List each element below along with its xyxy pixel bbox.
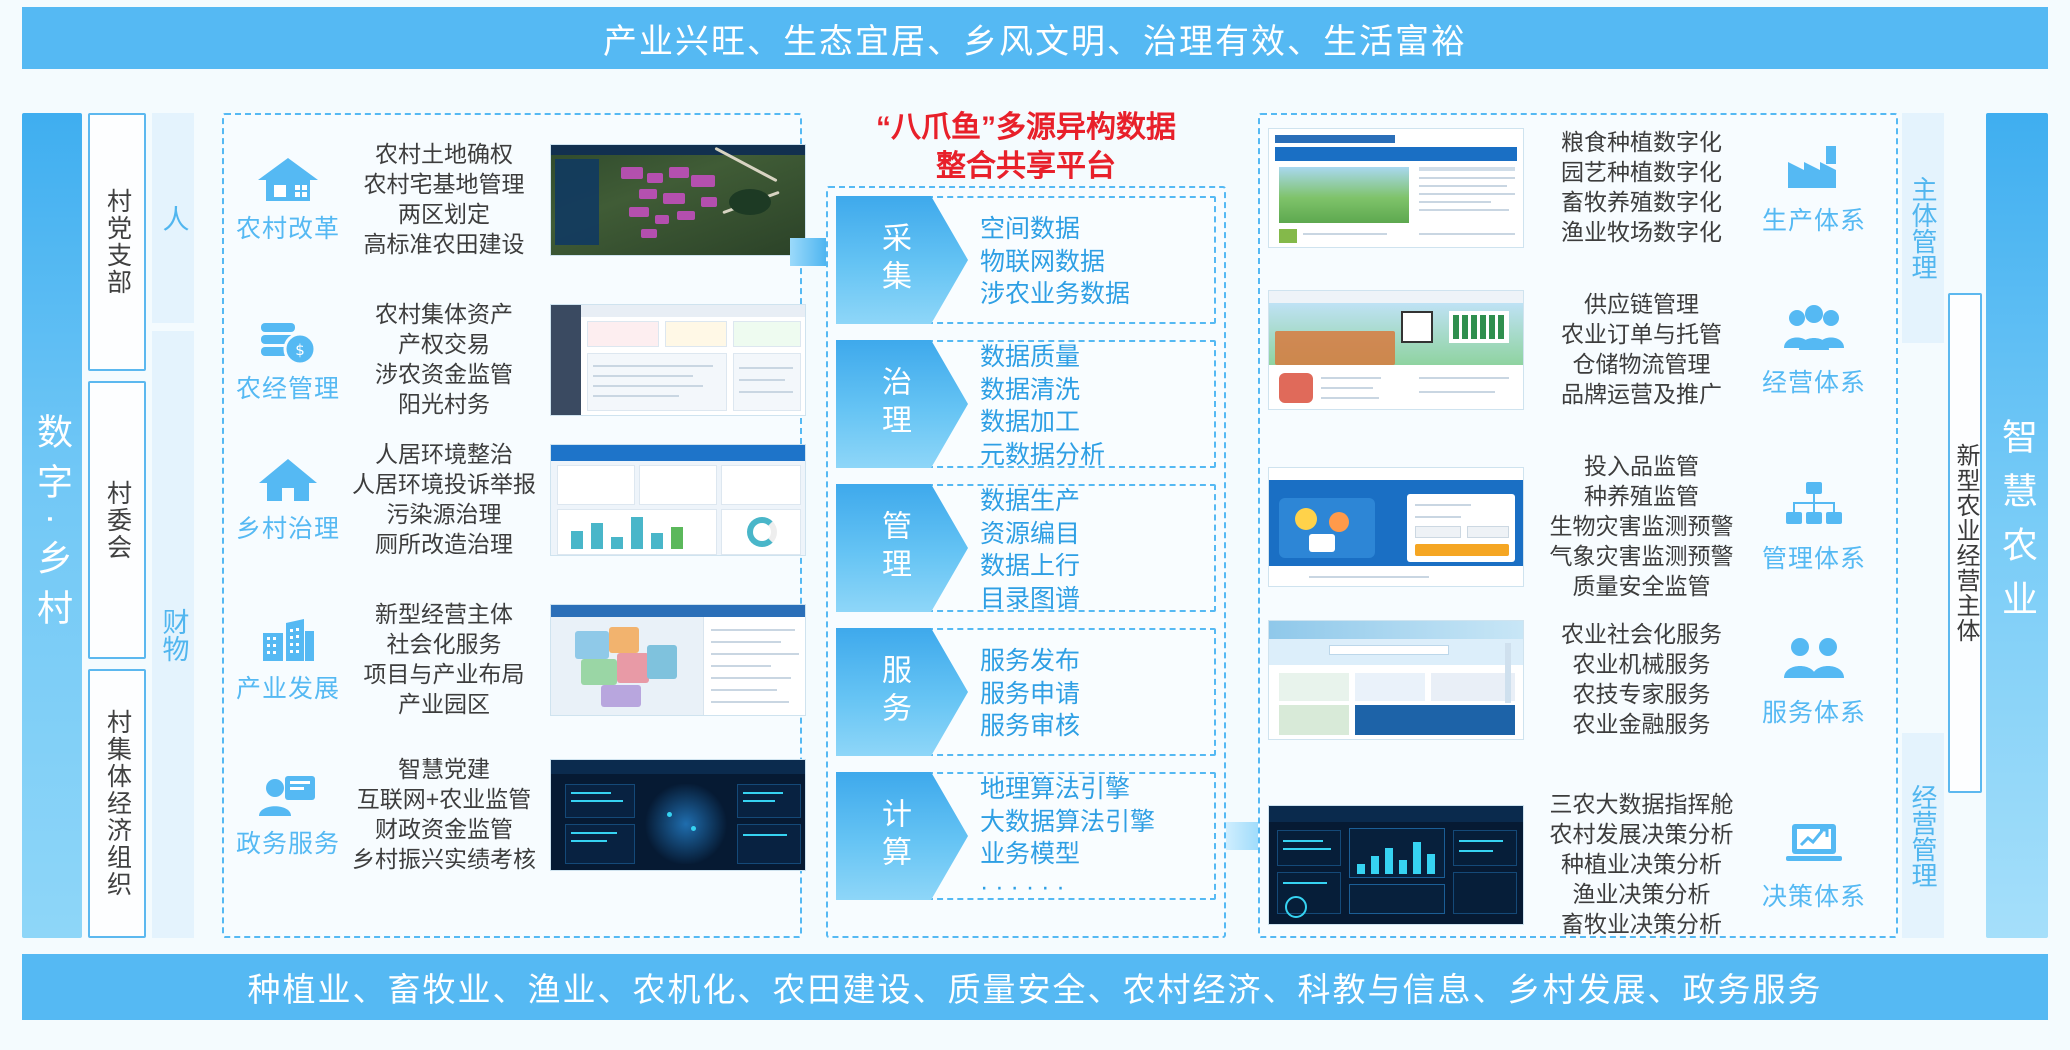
org-label: 村党支部 bbox=[105, 188, 130, 296]
pipeline-input-connector bbox=[790, 238, 826, 266]
stage-name: 管理 bbox=[878, 510, 908, 586]
right-feature-row[interactable]: 农业社会化服务 农业机械服务 农技专家服务 农业金融服务 服务体系 bbox=[1268, 620, 1888, 740]
feature-label: 产业发展 bbox=[236, 669, 340, 705]
org-box-collective-economy[interactable]: 村集体经济组织 bbox=[88, 669, 146, 938]
feature-text: 农村集体资产 产权交易 涉农资金监管 阳光村务 bbox=[344, 300, 544, 420]
right-feature-text: 农业社会化服务 农业机械服务 农技专家服务 农业金融服务 bbox=[1534, 620, 1749, 740]
bi-dashboard-screenshot[interactable] bbox=[550, 444, 806, 556]
feature-text: 智慧党建 互联网+农业监管 财政资金监管 乡村振兴实绩考核 bbox=[344, 755, 544, 875]
pipeline-stage-manage[interactable]: 管理 数据生产 资源编目 数据上行 目录图谱 bbox=[836, 484, 1216, 612]
stage-chevron: 管理 bbox=[836, 484, 968, 612]
buildings-icon bbox=[255, 615, 321, 665]
right-feature-row[interactable]: 供应链管理 农业订单与托管 仓储物流管理 品牌运营及推广 经营体系 bbox=[1268, 290, 1888, 410]
stage-items: 数据生产 资源编目 数据上行 目录图谱 bbox=[980, 486, 1208, 614]
right-feature-icon-group: 服务体系 bbox=[1749, 632, 1879, 729]
org-box-village-party-branch[interactable]: 村党支部 bbox=[88, 113, 146, 371]
stage-chevron: 计算 bbox=[836, 772, 968, 900]
feature-icon-group: $ 农经管理 bbox=[232, 315, 344, 405]
produce-trace-screenshot[interactable] bbox=[1268, 290, 1524, 410]
right-class-cell-operation-management: 经营管理 bbox=[1902, 733, 1944, 938]
feature-label: 政务服务 bbox=[236, 824, 340, 860]
right-feature-label: 经营体系 bbox=[1762, 363, 1866, 399]
right-feature-icon-group: 决策体系 bbox=[1749, 816, 1879, 913]
stage-name: 治理 bbox=[878, 366, 908, 442]
laptop-chart-icon bbox=[1782, 816, 1846, 873]
stage-name: 服务 bbox=[878, 654, 908, 730]
org-box-village-committee[interactable]: 村委会 bbox=[88, 381, 146, 659]
stage-items: 服务发布 服务申请 服务审核 bbox=[980, 630, 1208, 758]
bottom-banner-text: 种植业、畜牧业、渔业、农机化、农田建设、质量安全、农村经济、科教与信息、乡村发展… bbox=[248, 963, 1823, 1011]
right-feature-text: 粮食种植数字化 园艺种植数字化 畜牧养殖数字化 渔业牧场数字化 bbox=[1534, 128, 1749, 248]
resource-cell-people: 人 bbox=[152, 113, 194, 323]
right-feature-text: 三农大数据指挥舱 农村发展决策分析 种植业决策分析 渔业决策分析 畜牧业决策分析 bbox=[1534, 790, 1749, 939]
left-feature-row[interactable]: $ 农经管理 农村集体资产 产权交易 涉农资金监管 阳光村务 bbox=[232, 300, 792, 420]
resource-label: 财物 bbox=[160, 608, 187, 662]
svg-text:$: $ bbox=[295, 341, 305, 359]
right-feature-icon-group: 生产体系 bbox=[1749, 140, 1879, 237]
right-class-column: 主体管理 经营管理 bbox=[1902, 113, 1944, 938]
feature-icon-group: 政务服务 bbox=[232, 770, 344, 860]
center-title: “八爪鱼”多源异构数据 整合共享平台 bbox=[826, 108, 1226, 186]
right-class-label: 主体管理 bbox=[1910, 176, 1936, 280]
agri-portal-screenshot[interactable] bbox=[1268, 128, 1524, 248]
home-roof-icon bbox=[255, 455, 321, 505]
feature-label: 农村改革 bbox=[236, 209, 340, 245]
org-label: 村集体经济组织 bbox=[105, 709, 130, 898]
right-rail: 智慧农业 bbox=[1986, 113, 2048, 938]
decision-cockpit-screenshot[interactable] bbox=[1268, 805, 1524, 925]
right-feature-text: 投入品监管 种养殖监管 生物灾害监测预警 气象灾害监测预警 质量安全监管 bbox=[1534, 452, 1749, 601]
right-class-label: 经营管理 bbox=[1910, 784, 1936, 888]
feature-text: 农村土地确权 农村宅基地管理 两区划定 高标准农田建设 bbox=[344, 140, 544, 260]
factory-icon bbox=[1782, 140, 1846, 197]
right-feature-row[interactable]: 投入品监管 种养殖监管 生物灾害监测预警 气象灾害监测预警 质量安全监管 管理体… bbox=[1268, 452, 1888, 601]
feature-label: 乡村治理 bbox=[236, 509, 340, 545]
feature-icon-group: 乡村治理 bbox=[232, 455, 344, 545]
resource-cell-assets: 财物 bbox=[152, 331, 194, 938]
stage-items: 地理算法引擎 大数据算法引擎 业务模型 · · · · · · bbox=[980, 774, 1208, 902]
infographic-page: 产业兴旺、生态宜居、乡风文明、治理有效、生活富裕 数字·乡村 村党支部 村委会 … bbox=[0, 0, 2070, 1050]
right-org-label: 新型农业经营主体 bbox=[1953, 443, 1977, 643]
left-feature-row[interactable]: 农村改革 农村土地确权 农村宅基地管理 两区划定 高标准农田建设 bbox=[232, 140, 792, 260]
pipeline-stage-collect[interactable]: 采集 空间数据 物联网数据 涉农业务数据 bbox=[836, 196, 1216, 324]
people-group-icon bbox=[1782, 302, 1846, 359]
stage-name: 采集 bbox=[878, 222, 908, 298]
feature-label: 农经管理 bbox=[236, 369, 340, 405]
house-icon bbox=[255, 155, 321, 205]
left-feature-row[interactable]: 产业发展 新型经营主体 社会化服务 项目与产业布局 产业园区 bbox=[232, 600, 792, 720]
safety-platform-screenshot[interactable] bbox=[1268, 467, 1524, 587]
right-feature-label: 服务体系 bbox=[1762, 693, 1866, 729]
people-pair-icon bbox=[1782, 632, 1846, 689]
feature-text: 人居环境整治 人居环境投诉举报 污染源治理 厕所改造治理 bbox=[344, 440, 544, 560]
feature-text: 新型经营主体 社会化服务 项目与产业布局 产业园区 bbox=[344, 600, 544, 720]
stage-chevron: 采集 bbox=[836, 196, 968, 324]
org-tree-icon bbox=[1782, 478, 1846, 535]
right-rail-label: 智慧农业 bbox=[1999, 418, 2035, 634]
resource-label: 人 bbox=[160, 205, 187, 232]
satellite-map-screenshot[interactable] bbox=[550, 144, 806, 256]
pipeline-stage-govern[interactable]: 治理 数据质量 数据清洗 数据加工 元数据分析 bbox=[836, 340, 1216, 468]
stage-chevron: 服务 bbox=[836, 628, 968, 756]
pipeline-stage-service[interactable]: 服务 服务发布 服务申请 服务审核 bbox=[836, 628, 1216, 756]
feature-icon-group: 农村改革 bbox=[232, 155, 344, 245]
finance-console-screenshot[interactable] bbox=[550, 304, 806, 416]
right-org-column: 新型农业经营主体 bbox=[1948, 113, 1982, 938]
service-portal-screenshot[interactable] bbox=[1268, 620, 1524, 740]
left-rail-label: 数字·乡村 bbox=[34, 413, 70, 639]
right-feature-icon-group: 管理体系 bbox=[1749, 478, 1879, 575]
right-feature-text: 供应链管理 农业订单与托管 仓储物流管理 品牌运营及推广 bbox=[1534, 290, 1749, 410]
pipeline-output-connector bbox=[1226, 822, 1262, 850]
bottom-banner: 种植业、畜牧业、渔业、农机化、农田建设、质量安全、农村经济、科教与信息、乡村发展… bbox=[22, 954, 2048, 1020]
left-feature-row[interactable]: 乡村治理 人居环境整治 人居环境投诉举报 污染源治理 厕所改造治理 bbox=[232, 440, 792, 560]
right-feature-label: 管理体系 bbox=[1762, 539, 1866, 575]
resource-column: 人 财物 bbox=[152, 113, 194, 938]
right-class-cell-entity-management: 主体管理 bbox=[1902, 113, 1944, 343]
top-banner-text: 产业兴旺、生态宜居、乡风文明、治理有效、生活富裕 bbox=[603, 14, 1467, 63]
right-feature-label: 生产体系 bbox=[1762, 201, 1866, 237]
gis-industry-screenshot[interactable] bbox=[550, 604, 806, 716]
right-org-box-new-agri-entity[interactable]: 新型农业经营主体 bbox=[1948, 293, 1982, 793]
right-feature-icon-group: 经营体系 bbox=[1749, 302, 1879, 399]
right-feature-label: 决策体系 bbox=[1762, 877, 1866, 913]
right-feature-row[interactable]: 粮食种植数字化 园艺种植数字化 畜牧养殖数字化 渔业牧场数字化 生产体系 bbox=[1268, 128, 1888, 248]
person-screen-icon bbox=[255, 770, 321, 820]
left-feature-row[interactable]: 政务服务 智慧党建 互联网+农业监管 财政资金监管 乡村振兴实绩考核 bbox=[232, 755, 792, 875]
dark-command-screenshot[interactable] bbox=[550, 759, 806, 871]
right-feature-row[interactable]: 三农大数据指挥舱 农村发展决策分析 种植业决策分析 渔业决策分析 畜牧业决策分析… bbox=[1268, 790, 1888, 939]
stage-name: 计算 bbox=[878, 798, 908, 874]
org-label: 村委会 bbox=[105, 480, 130, 561]
feature-icon-group: 产业发展 bbox=[232, 615, 344, 705]
stage-items: 数据质量 数据清洗 数据加工 元数据分析 bbox=[980, 342, 1208, 470]
top-banner: 产业兴旺、生态宜居、乡风文明、治理有效、生活富裕 bbox=[22, 7, 2048, 69]
pipeline-stage-compute[interactable]: 计算 地理算法引擎 大数据算法引擎 业务模型 · · · · · · bbox=[836, 772, 1216, 900]
stage-chevron: 治理 bbox=[836, 340, 968, 468]
org-column: 村党支部 村委会 村集体经济组织 bbox=[88, 113, 146, 938]
coins-dollar-icon: $ bbox=[255, 315, 321, 365]
stage-items: 空间数据 物联网数据 涉农业务数据 bbox=[980, 198, 1208, 326]
left-rail: 数字·乡村 bbox=[22, 113, 82, 938]
